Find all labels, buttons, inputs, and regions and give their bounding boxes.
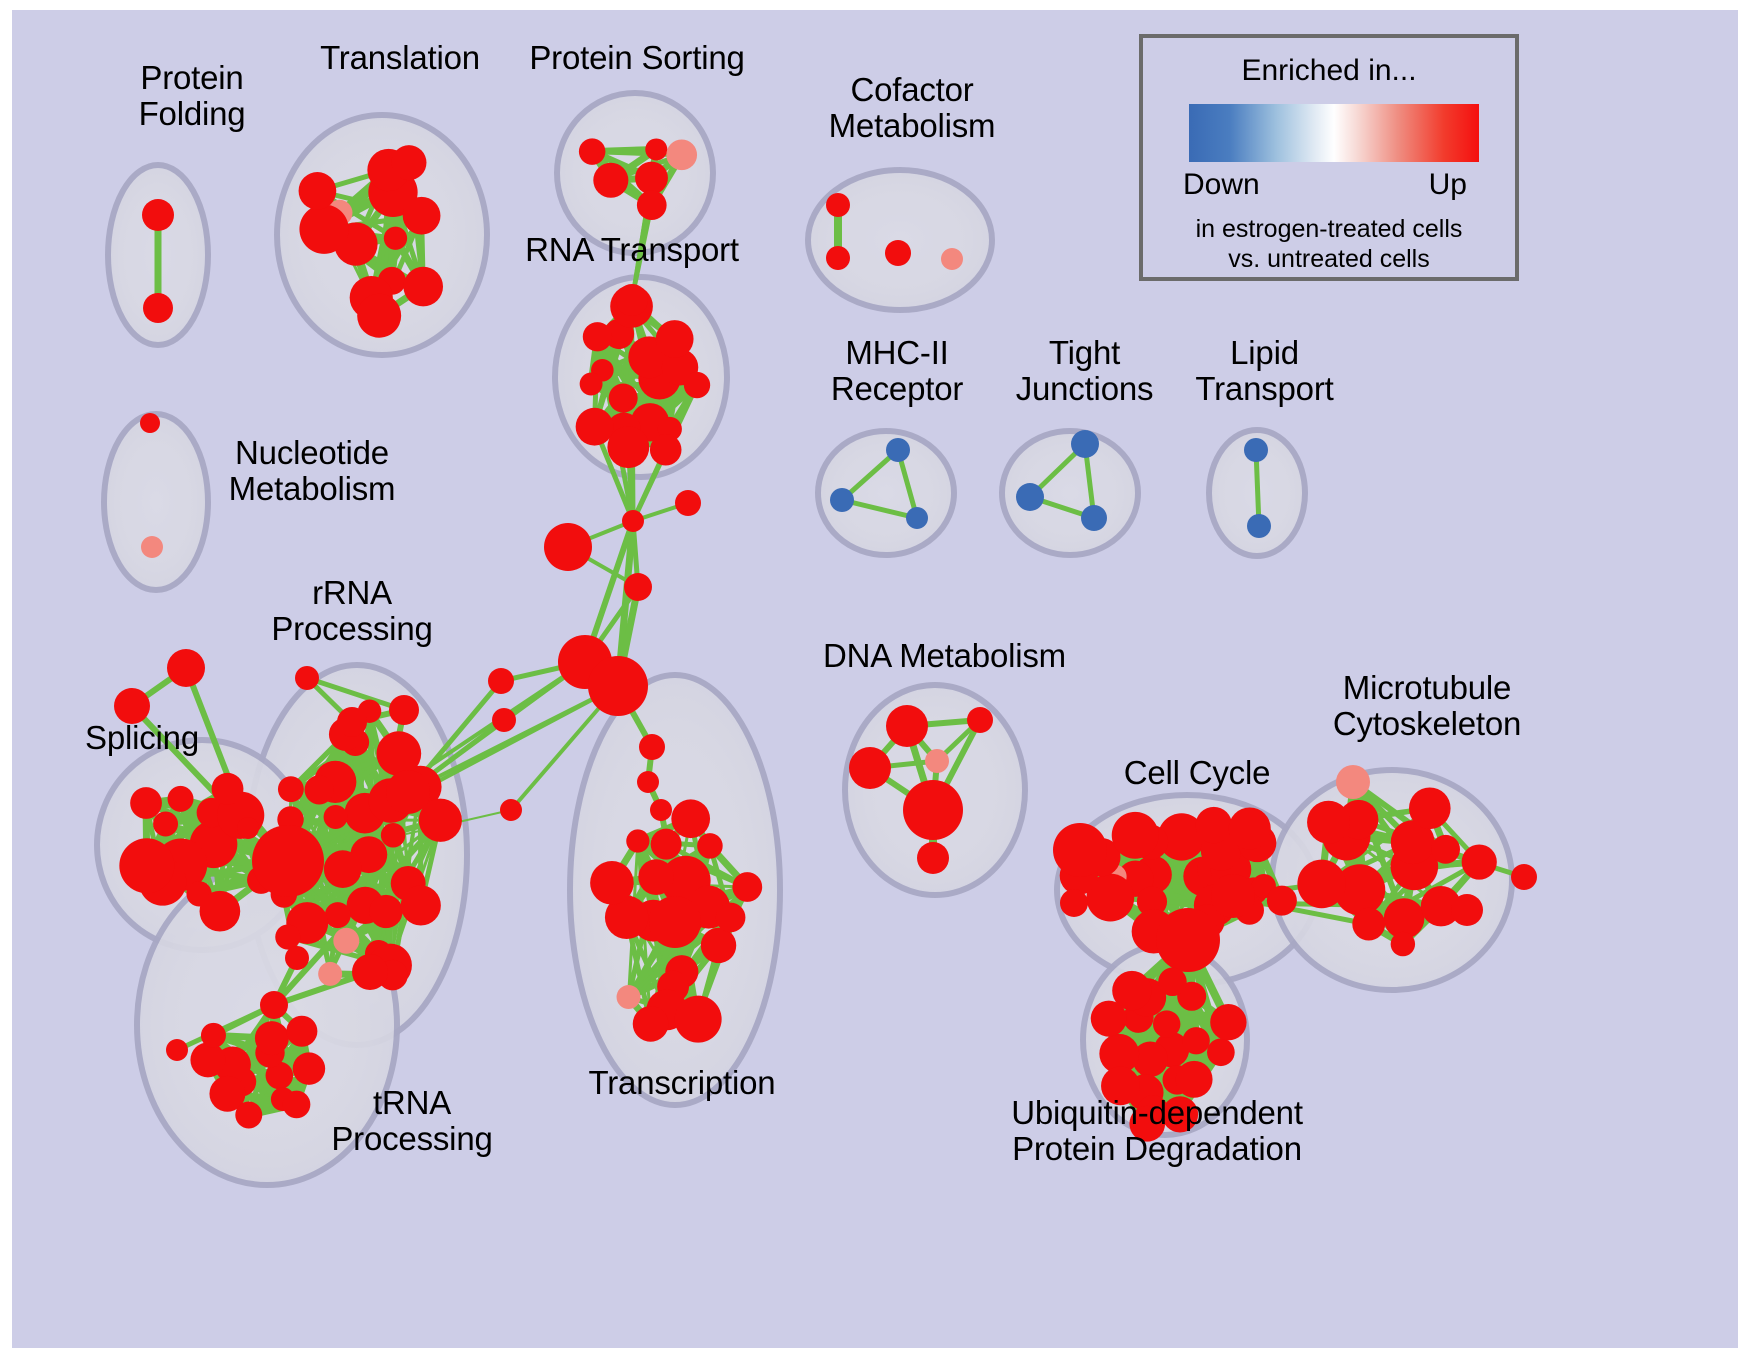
gene-set-node[interactable] xyxy=(941,248,963,270)
gene-set-node[interactable] xyxy=(278,776,304,802)
gene-set-node[interactable] xyxy=(622,510,644,532)
gene-set-node[interactable] xyxy=(826,193,850,217)
gene-set-node[interactable] xyxy=(1511,864,1537,890)
gene-set-node[interactable] xyxy=(235,1102,262,1129)
gene-set-node[interactable] xyxy=(886,438,910,462)
gene-set-node[interactable] xyxy=(903,780,963,840)
gene-set-node[interactable] xyxy=(200,891,241,932)
gene-set-node[interactable] xyxy=(1267,886,1297,916)
gene-set-node[interactable] xyxy=(190,1042,225,1077)
gene-set-node[interactable] xyxy=(401,885,441,925)
gene-set-node[interactable] xyxy=(260,991,288,1019)
gene-set-node[interactable] xyxy=(275,924,300,949)
gene-set-node[interactable] xyxy=(609,384,638,413)
cluster-label-protein-sorting: Protein Sorting xyxy=(512,40,762,76)
gene-set-node[interactable] xyxy=(626,829,649,852)
cluster-label-nucleotide-metabolism: Nucleotide Metabolism xyxy=(207,435,417,507)
gene-set-node[interactable] xyxy=(381,823,406,848)
gene-set-node[interactable] xyxy=(142,199,174,231)
gene-set-node[interactable] xyxy=(318,962,342,986)
cluster-label-rna-transport: RNA Transport xyxy=(512,232,752,268)
gene-set-node[interactable] xyxy=(675,996,722,1043)
cluster-label-transcription: Transcription xyxy=(567,1065,797,1101)
gene-set-node[interactable] xyxy=(616,284,648,316)
gene-set-node[interactable] xyxy=(286,1016,317,1047)
gene-set-node[interactable] xyxy=(637,190,667,220)
cluster-label-dna-metabolism: DNA Metabolism xyxy=(807,638,1082,674)
gene-set-node[interactable] xyxy=(732,872,762,902)
gene-set-node[interactable] xyxy=(141,536,163,558)
gene-set-node[interactable] xyxy=(1211,874,1255,918)
legend-down-label: Down xyxy=(1183,168,1260,202)
gene-set-node[interactable] xyxy=(1352,908,1385,941)
gene-set-node[interactable] xyxy=(325,902,351,928)
gene-set-node[interactable] xyxy=(1336,765,1370,799)
gene-set-node[interactable] xyxy=(593,163,628,198)
gene-set-node[interactable] xyxy=(357,294,401,338)
gene-set-node[interactable] xyxy=(153,811,178,836)
gene-set-node[interactable] xyxy=(579,138,606,165)
gene-set-node[interactable] xyxy=(283,1091,311,1119)
gene-set-node[interactable] xyxy=(607,426,649,468)
gene-set-node[interactable] xyxy=(638,859,674,895)
gene-set-node[interactable] xyxy=(701,928,736,963)
gene-set-node[interactable] xyxy=(967,707,993,733)
gene-set-node[interactable] xyxy=(1297,860,1346,909)
legend-title: Enriched in... xyxy=(1143,54,1515,88)
cluster-label-splicing: Splicing xyxy=(57,720,227,756)
gene-set-node[interactable] xyxy=(830,488,854,512)
cluster-label-cell-cycle: Cell Cycle xyxy=(1097,755,1297,791)
gene-set-node[interactable] xyxy=(1176,1061,1213,1098)
gene-set-node[interactable] xyxy=(651,829,682,860)
gene-set-node[interactable] xyxy=(293,1052,325,1084)
gene-set-node[interactable] xyxy=(684,372,710,398)
cluster-ellipse-nucleotide-metabolism xyxy=(104,414,208,590)
gene-set-node[interactable] xyxy=(324,805,348,829)
gene-set-node[interactable] xyxy=(716,903,746,933)
gene-set-node[interactable] xyxy=(650,434,682,466)
gene-set-node[interactable] xyxy=(826,246,850,270)
legend-box: Enriched in... Down Up in estrogen-treat… xyxy=(1139,34,1519,281)
gene-set-node[interactable] xyxy=(1391,932,1415,956)
gene-set-node[interactable] xyxy=(500,799,522,821)
gene-set-node[interactable] xyxy=(1244,438,1268,462)
gene-set-node[interactable] xyxy=(255,1021,289,1055)
gene-set-node[interactable] xyxy=(697,833,723,859)
gene-set-node[interactable] xyxy=(488,668,514,694)
gene-set-node[interactable] xyxy=(333,928,359,954)
gene-set-node[interactable] xyxy=(143,293,173,323)
gene-set-node[interactable] xyxy=(492,708,516,732)
gene-set-node[interactable] xyxy=(140,413,160,433)
gene-set-node[interactable] xyxy=(299,172,337,210)
gene-set-node[interactable] xyxy=(403,197,441,235)
gene-set-node[interactable] xyxy=(1451,894,1483,926)
gene-set-node[interactable] xyxy=(849,747,891,789)
gene-set-node[interactable] xyxy=(1183,1027,1210,1054)
gene-set-node[interactable] xyxy=(305,775,334,804)
gene-set-node[interactable] xyxy=(369,895,402,928)
gene-set-node[interactable] xyxy=(637,771,659,793)
gene-set-node[interactable] xyxy=(391,145,426,180)
gene-set-node[interactable] xyxy=(1081,505,1107,531)
legend-gradient-bar xyxy=(1189,104,1479,162)
gene-set-node[interactable] xyxy=(925,749,949,773)
gene-set-node[interactable] xyxy=(635,162,668,195)
gene-set-node[interactable] xyxy=(580,373,603,396)
gene-set-node[interactable] xyxy=(588,656,648,716)
legend-up-label: Up xyxy=(1429,168,1467,202)
gene-set-node[interactable] xyxy=(1229,807,1271,849)
gene-set-node[interactable] xyxy=(649,896,701,948)
gene-set-node[interactable] xyxy=(167,649,205,687)
gene-set-node[interactable] xyxy=(1091,1001,1127,1037)
cluster-label-mhc-ii-receptor: MHC-II Receptor xyxy=(802,335,992,407)
gene-set-node[interactable] xyxy=(377,731,422,776)
cluster-label-protein-folding: Protein Folding xyxy=(92,60,292,132)
gene-set-node[interactable] xyxy=(1207,1038,1235,1066)
gene-set-node[interactable] xyxy=(656,320,694,358)
gene-set-node[interactable] xyxy=(130,787,162,819)
gene-set-node[interactable] xyxy=(639,734,665,760)
gene-set-node[interactable] xyxy=(299,205,348,254)
gene-set-node[interactable] xyxy=(906,507,928,529)
gene-set-node[interactable] xyxy=(675,490,701,516)
gene-set-node[interactable] xyxy=(1112,812,1159,859)
gene-set-node[interactable] xyxy=(337,707,367,737)
gene-set-node[interactable] xyxy=(1060,889,1088,917)
gene-set-node[interactable] xyxy=(1247,514,1271,538)
cluster-label-trna-processing: tRNA Processing xyxy=(312,1085,512,1157)
gene-set-node[interactable] xyxy=(650,799,672,821)
gene-set-node[interactable] xyxy=(666,139,697,170)
gene-set-node[interactable] xyxy=(590,861,634,905)
gene-set-node[interactable] xyxy=(295,666,319,690)
gene-set-node[interactable] xyxy=(403,267,443,307)
gene-set-node[interactable] xyxy=(1196,807,1232,843)
gene-set-node[interactable] xyxy=(1462,844,1497,879)
gene-set-node[interactable] xyxy=(617,985,641,1009)
cluster-label-translation: Translation xyxy=(290,40,510,76)
gene-set-node[interactable] xyxy=(645,138,667,160)
gene-set-node[interactable] xyxy=(917,842,949,874)
gene-set-node[interactable] xyxy=(168,786,194,812)
gene-set-node[interactable] xyxy=(252,825,324,897)
network-canvas: Protein FoldingTranslationProtein Sortin… xyxy=(12,10,1738,1348)
gene-set-node[interactable] xyxy=(1156,908,1220,972)
gene-set-node[interactable] xyxy=(1071,430,1099,458)
gene-set-node[interactable] xyxy=(384,227,407,250)
cluster-label-lipid-transport: Lipid Transport xyxy=(1172,335,1357,407)
gene-set-node[interactable] xyxy=(324,850,362,888)
cluster-label-ubiquitin-protein-degradation: Ubiquitin-dependent Protein Degradation xyxy=(987,1095,1327,1167)
gene-set-node[interactable] xyxy=(389,695,419,725)
gene-set-node[interactable] xyxy=(624,573,652,601)
gene-set-node[interactable] xyxy=(633,1006,669,1042)
gene-set-node[interactable] xyxy=(885,240,911,266)
gene-set-node[interactable] xyxy=(1053,823,1107,877)
gene-set-node[interactable] xyxy=(1307,801,1350,844)
gene-set-node[interactable] xyxy=(166,1039,188,1061)
gene-set-node[interactable] xyxy=(583,322,612,351)
cluster-label-microtubule-cytoskeleton: Microtubule Cytoskeleton xyxy=(1302,670,1552,742)
gene-set-node[interactable] xyxy=(1431,835,1460,864)
gene-set-node[interactable] xyxy=(886,705,928,747)
cluster-label-tight-junctions: Tight Junctions xyxy=(992,335,1177,407)
gene-set-node[interactable] xyxy=(671,799,710,838)
gene-set-node[interactable] xyxy=(1153,1010,1180,1037)
gene-set-node[interactable] xyxy=(237,817,259,839)
gene-set-node[interactable] xyxy=(1158,968,1186,996)
figure-root: Protein FoldingTranslationProtein Sortin… xyxy=(0,0,1750,1360)
gene-set-node[interactable] xyxy=(212,773,244,805)
cluster-label-cofactor-metabolism: Cofactor Metabolism xyxy=(807,72,1017,144)
gene-set-node[interactable] xyxy=(201,1023,226,1048)
legend-subtitle: in estrogen-treated cells vs. untreated … xyxy=(1143,214,1515,274)
gene-set-node[interactable] xyxy=(1016,483,1044,511)
gene-set-node[interactable] xyxy=(1409,787,1451,829)
gene-set-node[interactable] xyxy=(544,523,592,571)
cluster-label-rrna-processing: rRNA Processing xyxy=(252,575,452,647)
gene-set-node[interactable] xyxy=(576,408,614,446)
gene-set-node[interactable] xyxy=(352,954,388,990)
gene-set-node[interactable] xyxy=(386,770,430,814)
gene-set-node[interactable] xyxy=(285,946,309,970)
gene-set-node[interactable] xyxy=(1210,1004,1246,1040)
gene-set-node[interactable] xyxy=(119,838,174,893)
